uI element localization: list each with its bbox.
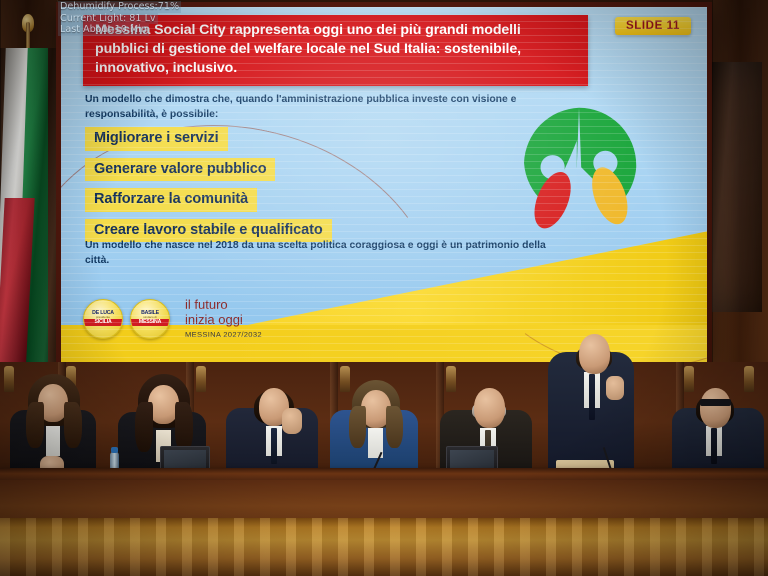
slide-number-badge: SLIDE 11 bbox=[615, 17, 691, 35]
osd-current-light: Current Light: 81 Lv bbox=[58, 13, 158, 25]
council-panel bbox=[0, 368, 768, 576]
messina-social-city-logo bbox=[513, 99, 645, 231]
bullet-item-1: Migliorare i servizi bbox=[85, 127, 228, 151]
slide-intro-text: Un modello che dimostra che, quando l'am… bbox=[85, 93, 555, 123]
screenshot-root: Messina Social City rappresenta oggi uno… bbox=[0, 0, 768, 576]
basile-badge-icon: BASILE sindaco di MESSINA bbox=[130, 299, 170, 339]
eyeglasses-icon bbox=[700, 399, 731, 406]
desk-lit-panel bbox=[0, 518, 768, 576]
de-luca-badge-icon: DE LUCA presidente SICILIA bbox=[83, 299, 123, 339]
projector-osd-overlay: Dehumidify Process:71% Current Light: 81… bbox=[58, 1, 181, 36]
slide-bullet-list: Migliorare i servizi Generare valore pub… bbox=[85, 127, 332, 249]
slide-footer-logos: DE LUCA presidente SICILIA BASILE sindac… bbox=[83, 298, 262, 339]
presentation-slide: Messina Social City rappresenta oggi uno… bbox=[61, 7, 707, 363]
bullet-item-2: Generare valore pubblico bbox=[85, 158, 275, 182]
osd-last-about: Last About:10 Min bbox=[58, 24, 149, 36]
projection-screen-frame: Messina Social City rappresenta oggi uno… bbox=[56, 2, 712, 368]
bullet-item-3: Rafforzare la comunità bbox=[85, 188, 257, 212]
osd-dehumidify-status: Dehumidify Process:71% bbox=[58, 1, 181, 13]
italian-flag-cloth bbox=[0, 48, 62, 378]
campaign-tagline: il futuro inizia oggi MESSINA 2027/2032 bbox=[185, 298, 262, 339]
eu-flag-cloth bbox=[706, 62, 762, 312]
slide-closing-text: Un modello che nasce nel 2018 da una sce… bbox=[85, 239, 555, 269]
